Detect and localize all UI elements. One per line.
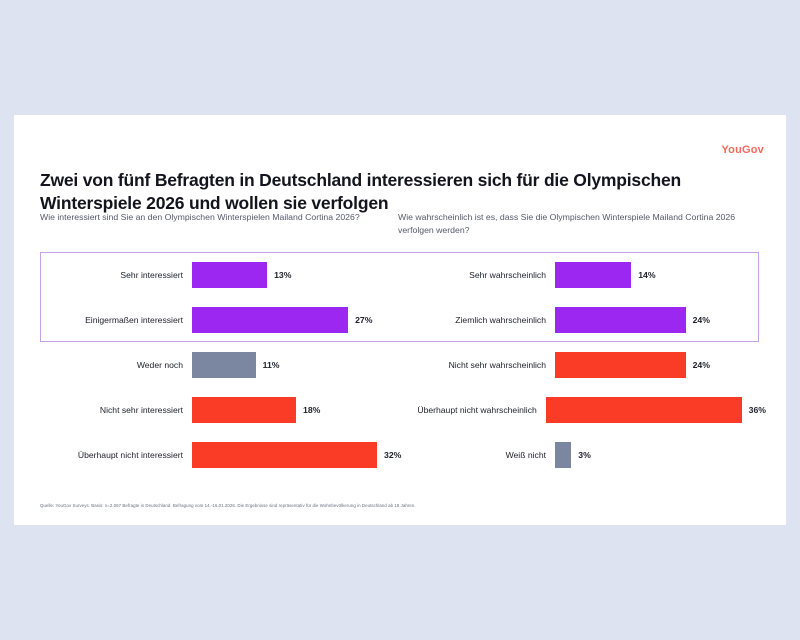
bar-category-label: Überhaupt nicht interessiert [40, 450, 192, 460]
bar-track: 13% [192, 262, 403, 288]
bar-fill [192, 307, 348, 333]
bar-fill [555, 307, 686, 333]
bar-category-label: Sehr interessiert [40, 270, 192, 280]
bar-row: Weiß nicht 3% [403, 432, 766, 477]
bar-value-label: 32% [384, 450, 401, 460]
bar-row: Überhaupt nicht interessiert 32% [40, 432, 403, 477]
bar-fill [192, 442, 377, 468]
bar-track: 27% [192, 307, 403, 333]
page-title: Zwei von fünf Befragten in Deutschland i… [40, 169, 740, 215]
bar-row: Überhaupt nicht wahrscheinlich 36% [403, 387, 766, 432]
bar-fill [555, 442, 571, 468]
question-row: Wie interessiert sind Sie an den Olympis… [40, 211, 766, 237]
bar-value-label: 11% [263, 360, 280, 370]
bar-fill [192, 352, 256, 378]
chart-interest: Sehr interessiert 13% Einigermaßen inter… [40, 252, 403, 477]
bar-value-label: 13% [274, 270, 291, 280]
bar-track: 32% [192, 442, 403, 468]
bar-row: Einigermaßen interessiert 27% [40, 297, 403, 342]
bar-track: 3% [555, 442, 766, 468]
bar-row: Sehr interessiert 13% [40, 252, 403, 297]
bar-value-label: 24% [693, 315, 710, 325]
bar-row: Nicht sehr interessiert 18% [40, 387, 403, 432]
yougov-logo: YouGov [721, 144, 764, 156]
question-right: Wie wahrscheinlich ist es, dass Sie die … [398, 211, 766, 237]
bar-fill [555, 352, 686, 378]
bar-track: 11% [192, 352, 403, 378]
bar-category-label: Einigermaßen interessiert [40, 315, 192, 325]
bar-category-label: Nicht sehr interessiert [40, 405, 192, 415]
bar-track: 36% [546, 397, 766, 423]
bar-fill [555, 262, 631, 288]
bar-category-label: Weiß nicht [403, 450, 555, 460]
bar-value-label: 18% [303, 405, 320, 415]
bar-fill [546, 397, 742, 423]
bar-row: Weder noch 11% [40, 342, 403, 387]
bar-track: 24% [555, 307, 766, 333]
bar-value-label: 36% [749, 405, 766, 415]
bar-value-label: 24% [693, 360, 710, 370]
bar-value-label: 27% [355, 315, 372, 325]
bar-fill [192, 397, 296, 423]
bar-category-label: Überhaupt nicht wahrscheinlich [403, 405, 546, 415]
bar-fill [192, 262, 267, 288]
bar-value-label: 14% [638, 270, 655, 280]
bar-track: 18% [192, 397, 403, 423]
charts-container: Sehr interessiert 13% Einigermaßen inter… [40, 252, 766, 477]
bar-row: Sehr wahrscheinlich 14% [403, 252, 766, 297]
bar-category-label: Nicht sehr wahrscheinlich [403, 360, 555, 370]
bar-track: 24% [555, 352, 766, 378]
bar-row: Nicht sehr wahrscheinlich 24% [403, 342, 766, 387]
bar-category-label: Weder noch [40, 360, 192, 370]
bar-category-label: Sehr wahrscheinlich [403, 270, 555, 280]
source-footnote: Quelle: YouGov Surveys. Basis: n=2.067 B… [40, 502, 740, 509]
bar-track: 14% [555, 262, 766, 288]
infographic-card: YouGov Zwei von fünf Befragten in Deutsc… [14, 115, 786, 525]
infographic-stage: YouGov Zwei von fünf Befragten in Deutsc… [0, 0, 800, 640]
question-left: Wie interessiert sind Sie an den Olympis… [40, 211, 398, 237]
bar-row: Ziemlich wahrscheinlich 24% [403, 297, 766, 342]
bar-value-label: 3% [578, 450, 591, 460]
bar-category-label: Ziemlich wahrscheinlich [403, 315, 555, 325]
chart-likelihood: Sehr wahrscheinlich 14% Ziemlich wahrsch… [403, 252, 766, 477]
